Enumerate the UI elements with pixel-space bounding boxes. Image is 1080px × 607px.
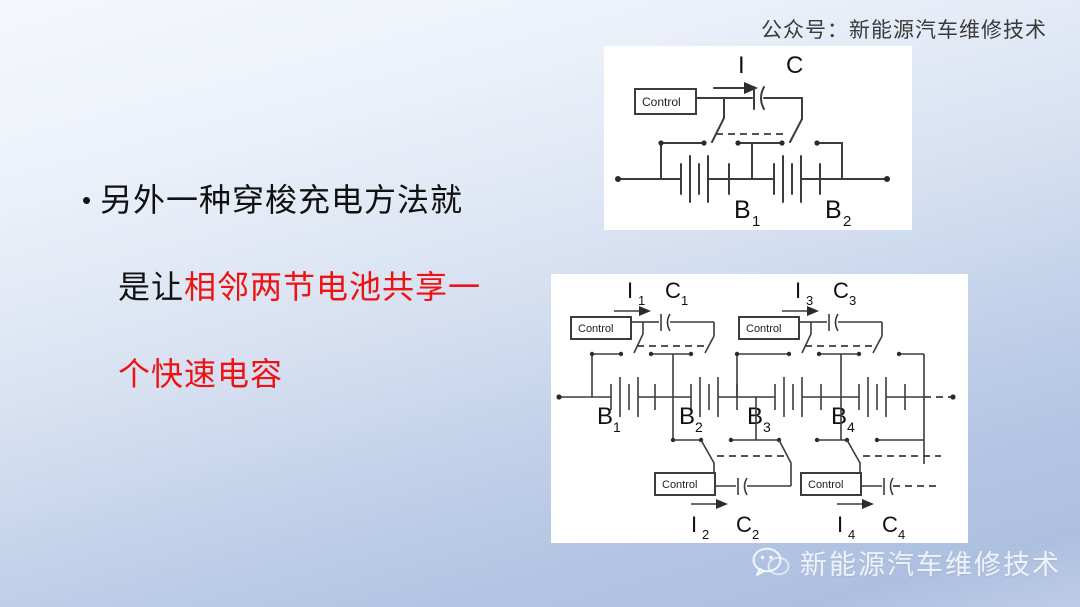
- figure-bottom-battery-4-label: B: [831, 403, 847, 430]
- wechat-icon: [752, 547, 790, 579]
- figure-bottom-control-3-label: Control: [746, 323, 781, 335]
- figure-top-battery-2-subscript: 2: [843, 213, 851, 230]
- bullet-marker-icon: •: [82, 178, 100, 222]
- figure-bottom-current-4-subscript: 4: [848, 527, 855, 542]
- figure-bottom-capacitor-2-label: C: [736, 512, 752, 537]
- bullet-line-2-red-text: 相邻两节电池共享一: [184, 268, 481, 306]
- bullet-line-2: 是让相邻两节电池共享一: [100, 265, 542, 309]
- figure-top-battery-1-subscript: 1: [752, 213, 760, 230]
- bullet-lines: 另外一种穿梭充电方法就 是让相邻两节电池共享一 个快速电容: [100, 178, 542, 396]
- figure-bottom-current-4-label: I: [837, 512, 843, 537]
- figure-bottom-current-2-subscript: 2: [702, 527, 709, 542]
- figure-bottom-current-3-label: I: [795, 278, 801, 303]
- figure-bottom-capacitor-4-label: C: [882, 512, 898, 537]
- figure-top-battery-1-label: B: [734, 196, 751, 224]
- figure-bottom-current-3-subscript: 3: [806, 293, 813, 308]
- figure-multi-capacitor: I 1 C 1 Control I: [551, 274, 968, 543]
- figure-bottom-control-4-label: Control: [808, 479, 843, 491]
- footer-watermark: 新能源汽车维修技术: [752, 543, 1061, 582]
- figure-bottom-capacitor-3-subscript: 3: [849, 293, 856, 308]
- bullet-line-1-black-text: 另外一种穿梭充电方法就: [100, 181, 463, 219]
- figure-bottom-control-1-label: Control: [578, 323, 613, 335]
- bullet-line-1: 另外一种穿梭充电方法就: [100, 178, 542, 222]
- figure-bottom-battery-2-label: B: [679, 403, 695, 430]
- figure-bottom-capacitor-1-label: C: [665, 278, 681, 303]
- bullet-text-block: • 另外一种穿梭充电方法就 是让相邻两节电池共享一 个快速电容: [82, 178, 542, 396]
- figure-bottom-current-1-label: I: [627, 278, 633, 303]
- figure-bottom-battery-2-subscript: 2: [695, 419, 703, 435]
- figure-bottom-control-2-label: Control: [662, 479, 697, 491]
- figure-single-capacitor: I C Control: [604, 46, 912, 230]
- figure-bottom-current-1-subscript: 1: [638, 293, 645, 308]
- figure-bottom-capacitor-4-subscript: 4: [898, 527, 905, 542]
- bullet-line-3: 个快速电容: [100, 352, 542, 396]
- figure-bottom-battery-1-label: B: [597, 403, 613, 430]
- figure-bottom-battery-4-subscript: 4: [847, 419, 855, 435]
- figure-top-current-label: I: [738, 52, 745, 79]
- header-watermark-text: 公众号：新能源汽车维修技术: [761, 14, 1047, 44]
- bullet-line-3-red-text: 个快速电容: [118, 355, 283, 393]
- figure-bottom-current-2-label: I: [691, 512, 697, 537]
- figure-top-capacitor-label: C: [786, 52, 803, 79]
- bullet-line-2-black-text: 是让: [118, 268, 184, 306]
- bullet-row: • 另外一种穿梭充电方法就 是让相邻两节电池共享一 个快速电容: [82, 178, 542, 396]
- figure-bottom-capacitor-3-label: C: [833, 278, 849, 303]
- figure-top-control-label: Control: [642, 95, 681, 109]
- figure-bottom-capacitor-1-subscript: 1: [681, 293, 688, 308]
- figure-bottom-battery-3-label: B: [747, 403, 763, 430]
- figure-top-battery-2-label: B: [825, 196, 842, 224]
- figure-bottom-battery-1-subscript: 1: [613, 419, 621, 435]
- footer-watermark-text: 新能源汽车维修技术: [800, 543, 1061, 582]
- slide-canvas: 公众号：新能源汽车维修技术 • 另外一种穿梭充电方法就 是让相邻两节电池共享一 …: [0, 0, 1080, 607]
- figure-bottom-capacitor-2-subscript: 2: [752, 527, 759, 542]
- figure-bottom-battery-3-subscript: 3: [763, 419, 771, 435]
